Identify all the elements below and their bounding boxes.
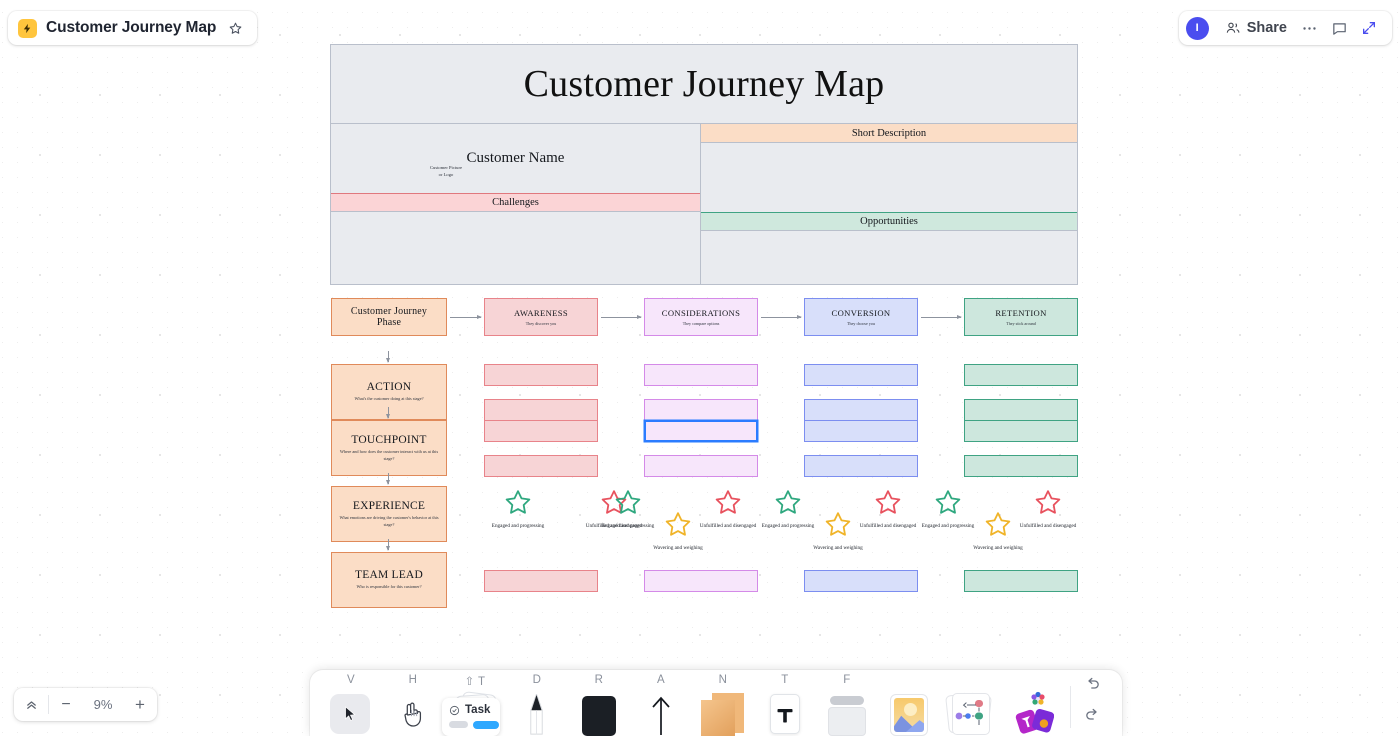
image-tool[interactable] bbox=[878, 674, 940, 736]
image-tool-icon bbox=[886, 692, 932, 736]
cell-box[interactable] bbox=[964, 364, 1078, 386]
task-card-tool-icon: Task bbox=[452, 692, 498, 736]
phase-subtitle: They stick around bbox=[1006, 321, 1036, 326]
connector-arrow bbox=[601, 317, 641, 318]
zoom-in-button[interactable]: + bbox=[123, 688, 157, 721]
task-card-tool[interactable]: ⇧ T Task bbox=[444, 674, 506, 736]
row-connector bbox=[388, 539, 389, 550]
star-icon bbox=[773, 488, 803, 517]
cell-box[interactable] bbox=[644, 455, 758, 477]
cell-box[interactable] bbox=[964, 420, 1078, 442]
experience-star-label: Unfulfilled and disengaged bbox=[1016, 523, 1080, 531]
arrow-tool[interactable]: A bbox=[630, 674, 692, 736]
shortcut-select-tool: V bbox=[320, 674, 382, 686]
star-icon bbox=[713, 488, 743, 517]
star-icon bbox=[823, 510, 853, 539]
hand-tool[interactable]: H bbox=[382, 674, 444, 736]
short-description-content-cell[interactable] bbox=[701, 143, 1077, 212]
cell-selected[interactable] bbox=[644, 420, 758, 442]
row-label-text: Customer JourneyPhase bbox=[351, 306, 427, 328]
star-outline-icon[interactable] bbox=[228, 21, 243, 36]
cell-box[interactable] bbox=[644, 364, 758, 386]
people-icon bbox=[1225, 20, 1241, 36]
cell-box[interactable] bbox=[804, 570, 918, 592]
text-tool[interactable]: T bbox=[754, 674, 816, 736]
phase-name: CONSIDERATIONS bbox=[662, 308, 740, 318]
shortcut-hand-tool: H bbox=[382, 674, 444, 686]
sticky-note-tool[interactable]: N bbox=[692, 674, 754, 736]
experience-star[interactable]: Unfulfilled and disengaged bbox=[1016, 488, 1080, 531]
opportunities-header: Opportunities bbox=[701, 212, 1077, 231]
template-tool-icon bbox=[948, 692, 994, 736]
customer-picture-placeholder: Customer Picture or Logo bbox=[391, 165, 501, 178]
draw-tool-icon bbox=[514, 692, 560, 736]
row-label-action[interactable]: ACTIONWhat's the customer doing at this … bbox=[331, 364, 447, 420]
apps-tool-icon bbox=[1010, 692, 1056, 736]
star-icon bbox=[503, 488, 533, 517]
text-tool-icon bbox=[762, 692, 808, 736]
ellipsis-icon[interactable] bbox=[1294, 14, 1324, 42]
shortcut-shape-tool: R bbox=[568, 674, 630, 686]
undo-redo-group bbox=[1077, 671, 1107, 736]
star-icon bbox=[983, 510, 1013, 539]
avatar[interactable]: I bbox=[1186, 17, 1209, 40]
connector-arrow bbox=[450, 317, 481, 318]
experience-star-label: Wavering and weighing bbox=[806, 545, 870, 553]
select-tool-icon bbox=[328, 692, 374, 736]
star-icon bbox=[1033, 488, 1063, 517]
draw-tool[interactable]: D bbox=[506, 674, 568, 736]
row-connector bbox=[388, 407, 389, 418]
star-icon bbox=[663, 510, 693, 539]
shortcut-draw-tool: D bbox=[506, 674, 568, 686]
whiteboard-app: Customer Journey Map I Share bbox=[0, 0, 1400, 736]
cell-box[interactable] bbox=[644, 399, 758, 421]
row-label-team-lead[interactable]: TEAM LEADWho is responsible for this cus… bbox=[331, 552, 447, 608]
cell-box[interactable] bbox=[484, 364, 598, 386]
connector-arrow bbox=[761, 317, 801, 318]
experience-star[interactable]: Unfulfilled and disengaged bbox=[696, 488, 760, 531]
phase-retention[interactable]: RETENTIONThey stick around bbox=[964, 298, 1078, 336]
row-label-text: TEAM LEAD bbox=[355, 569, 423, 581]
cell-box[interactable] bbox=[964, 570, 1078, 592]
experience-star-label: Unfulfilled and disengaged bbox=[856, 523, 920, 531]
template-tool[interactable] bbox=[940, 674, 1002, 736]
experience-star[interactable]: Engaged and progressing bbox=[486, 488, 550, 531]
row-connector bbox=[388, 473, 389, 484]
row-label-question: Where and how does the customer interact… bbox=[337, 449, 441, 462]
document-title-pill[interactable]: Customer Journey Map bbox=[8, 11, 257, 45]
shortcut-sticky-note-tool: N bbox=[692, 674, 754, 686]
phase-name: CONVERSION bbox=[832, 308, 891, 318]
row-label-question: Who is responsible for this customer? bbox=[356, 584, 421, 590]
phase-considerations[interactable]: CONSIDERATIONSThey compare options bbox=[644, 298, 758, 336]
undo-icon[interactable] bbox=[1077, 671, 1107, 698]
whiteboard-icon bbox=[18, 19, 37, 38]
phase-conversion[interactable]: CONVERSIONThey choose you bbox=[804, 298, 918, 336]
sticky-note-tool-icon bbox=[700, 692, 746, 736]
cell-box[interactable] bbox=[804, 399, 918, 421]
experience-star-label: Unfulfilled and disengaged bbox=[696, 523, 760, 531]
toolbar-divider bbox=[1070, 686, 1071, 728]
journey-map-board[interactable]: Customer Journey Map Customer Name Custo… bbox=[330, 44, 1078, 298]
shortcut-frame-tool: F bbox=[816, 674, 878, 686]
shape-tool-icon bbox=[576, 692, 622, 736]
cell-box[interactable] bbox=[804, 364, 918, 386]
apps-tool[interactable] bbox=[1002, 674, 1064, 736]
star-icon bbox=[933, 488, 963, 517]
share-label: Share bbox=[1247, 20, 1287, 36]
cell-box[interactable] bbox=[644, 570, 758, 592]
cell-box[interactable] bbox=[964, 455, 1078, 477]
page-title: Customer Journey Map bbox=[46, 19, 216, 37]
cell-box[interactable] bbox=[484, 455, 598, 477]
phase-name: RETENTION bbox=[995, 308, 1046, 318]
comment-icon[interactable] bbox=[1324, 14, 1354, 42]
row-label-text: ACTION bbox=[367, 381, 412, 393]
star-icon bbox=[613, 488, 643, 517]
expand-icon[interactable] bbox=[1354, 14, 1384, 42]
header-table: Customer Journey Map Customer Name Custo… bbox=[330, 44, 1078, 285]
short-description-header: Short Description bbox=[701, 124, 1077, 143]
row-label-question: What's the customer doing at this stage? bbox=[354, 396, 423, 402]
star-icon bbox=[873, 488, 903, 517]
zoom-out-button[interactable]: − bbox=[49, 688, 83, 721]
bottom-toolbar: V H⇧ T Task DRAN T F bbox=[310, 670, 1122, 736]
frame-tool-icon bbox=[824, 692, 870, 736]
row-label-text: TOUCHPOINT bbox=[351, 434, 426, 446]
shortcut-text-tool: T bbox=[754, 674, 816, 686]
phase-subtitle: They discover you bbox=[526, 321, 556, 326]
opportunities-content-cell[interactable] bbox=[701, 231, 1077, 284]
customer-name-cell[interactable]: Customer Name Customer Picture or Logo bbox=[331, 124, 700, 193]
row-label-experience[interactable]: EXPERIENCEWhat emotions are driving the … bbox=[331, 486, 447, 542]
experience-star[interactable]: Unfulfilled and disengaged bbox=[856, 488, 920, 531]
row-label-touchpoint[interactable]: TOUCHPOINTWhere and how does the custome… bbox=[331, 420, 447, 476]
select-tool[interactable]: V bbox=[320, 674, 382, 736]
experience-star-label: Engaged and progressing bbox=[486, 523, 550, 531]
cell-box[interactable] bbox=[484, 420, 598, 442]
phase-awareness[interactable]: AWARENESSThey discover you bbox=[484, 298, 598, 336]
phase-subtitle: They compare options bbox=[683, 321, 720, 326]
frame-tool[interactable]: F bbox=[816, 674, 878, 736]
row-label-phase[interactable]: Customer JourneyPhase bbox=[331, 298, 447, 336]
board-title: Customer Journey Map bbox=[331, 45, 1077, 124]
cell-box[interactable] bbox=[484, 570, 598, 592]
zoom-level-value[interactable]: 9% bbox=[83, 697, 123, 712]
arrow-tool-icon bbox=[638, 692, 684, 736]
cell-box[interactable] bbox=[484, 399, 598, 421]
row-connector bbox=[388, 351, 389, 362]
chevrons-up-icon[interactable] bbox=[14, 688, 48, 721]
cell-box[interactable] bbox=[804, 420, 918, 442]
redo-icon[interactable] bbox=[1077, 702, 1107, 729]
row-label-question: What emotions are driving the customer's… bbox=[337, 515, 441, 528]
connector-arrow bbox=[921, 317, 961, 318]
challenges-header: Challenges bbox=[331, 193, 700, 212]
shape-tool[interactable]: R bbox=[568, 674, 630, 736]
top-right-controls: I Share bbox=[1179, 11, 1392, 45]
shortcut-task-card-tool: ⇧ T bbox=[444, 674, 506, 688]
experience-star-label: Wavering and weighing bbox=[966, 545, 1030, 553]
hand-tool-icon bbox=[390, 692, 436, 736]
cell-box[interactable] bbox=[804, 455, 918, 477]
row-label-text: EXPERIENCE bbox=[353, 500, 425, 512]
challenges-content-cell[interactable] bbox=[331, 212, 700, 265]
zoom-control: − 9% + bbox=[14, 688, 157, 721]
phase-name: AWARENESS bbox=[514, 308, 568, 318]
share-button[interactable]: Share bbox=[1218, 14, 1294, 42]
shortcut-arrow-tool: A bbox=[630, 674, 692, 686]
experience-star-label: Wavering and weighing bbox=[646, 545, 710, 553]
cell-box[interactable] bbox=[964, 399, 1078, 421]
phase-subtitle: They choose you bbox=[847, 321, 875, 326]
